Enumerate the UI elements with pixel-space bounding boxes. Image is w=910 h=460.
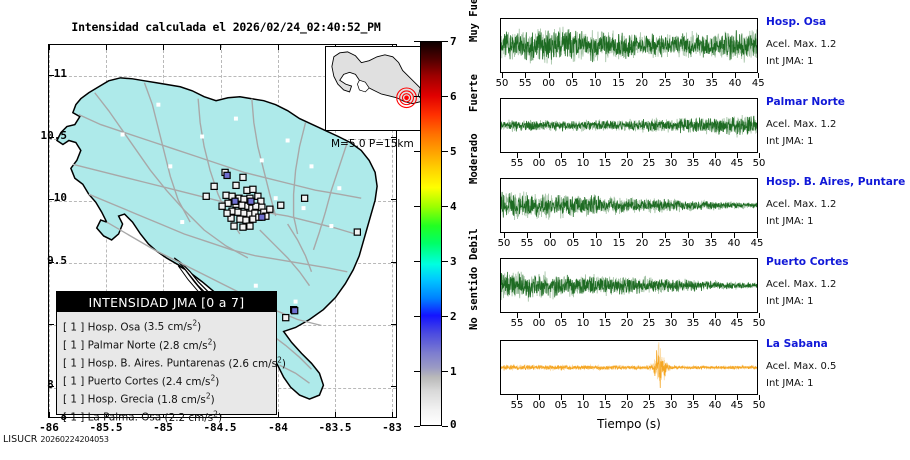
legend-station-name: Hosp. B. Aires. Puntarenas [88,358,225,370]
jma-intensity-label: Int JMA: 1 [766,378,814,389]
time-tick-label: 05 [550,318,572,329]
time-tick-label: 55 [514,78,536,89]
legend-station-row: [ 1 ] Hosp. Osa (3.5 cm/s2) [63,317,276,335]
legend-station-name: Puerto Cortes [88,376,159,388]
station-marker[interactable] [244,187,250,193]
station-name-label[interactable]: Hosp. B. Aires, Puntare [766,176,905,188]
colorbar-gradient [421,42,441,425]
seismogram-time-axis: 550005101520253035404550 [500,153,758,171]
time-tick-label: 20 [616,400,638,411]
colorbar-tick: 2 [450,310,457,323]
time-tick-label: 15 [594,318,616,329]
station-marker[interactable] [223,192,229,198]
time-tick-label: 00 [528,318,550,329]
legend-station-row: [ 1 ] Hosp. B. Aires. Puntarenas (2.6 cm… [63,353,276,371]
time-tick-label: 15 [594,400,616,411]
time-tick-label: 05 [561,78,583,89]
map-ytick: 10 [27,191,67,204]
seismogram-waveform [501,19,757,72]
time-tick-label: 10 [572,318,594,329]
station-marker[interactable] [278,202,284,208]
time-axis-title: Tiempo (s) [500,417,758,431]
station-marker[interactable] [241,196,247,202]
legend-header: INTENSIDAD JMA [0 a 7] [57,292,276,312]
legend-intensity-bracket: [ 1 ] [63,394,84,406]
max-acceleration-label: Acel. Max. 1.2 [766,279,836,290]
time-tick-label: 15 [608,78,630,89]
time-tick-label: 25 [654,78,676,89]
time-tick-label: 20 [616,158,638,169]
time-tick-label: 55 [506,400,528,411]
station-marker[interactable] [247,223,253,229]
time-tick-label: 25 [654,238,676,249]
time-tick-label: 35 [701,78,723,89]
legend-station-list: [ 1 ] Hosp. Osa (3.5 cm/s2)[ 1 ] Palmar … [57,312,276,425]
legend-accel-value: (3.5 cm/s2) [144,321,201,333]
time-tick-label: 40 [704,400,726,411]
time-tick-label: 00 [528,400,550,411]
seismogram-waveform [501,341,757,394]
time-tick-label: 05 [562,238,584,249]
time-tick-label: 30 [660,318,682,329]
time-tick-label: 40 [704,318,726,329]
time-tick-label: 00 [539,238,561,249]
max-acceleration-label: Acel. Max. 0.5 [766,361,836,372]
station-marker[interactable] [354,229,360,235]
jma-intensity-label: Int JMA: 1 [766,56,814,67]
time-tick-label: 00 [528,158,550,169]
time-tick-label: 20 [616,318,638,329]
station-marker[interactable] [302,195,308,201]
time-tick-label: 10 [584,78,606,89]
station-marker[interactable] [250,186,256,192]
time-tick-label: 45 [747,78,769,89]
time-tick-label: 45 [726,158,748,169]
station-marker[interactable] [292,308,298,314]
map-xtick: -83.5 [312,421,358,434]
legend-accel-value: (2.8 cm/s2) [159,340,216,352]
station-name-label[interactable]: La Sabana [766,338,828,350]
legend-station-name: La Palma. Osa [88,412,162,424]
station-marker[interactable] [250,216,256,222]
time-tick-label: 40 [723,238,745,249]
station-name-label[interactable]: Hosp. Osa [766,16,826,28]
legend-station-row: [ 1 ] Hosp. Grecia (1.8 cm/s2) [63,389,276,407]
station-marker[interactable] [259,214,265,220]
legend-intensity-bracket: [ 1 ] [63,412,84,424]
station-marker[interactable] [240,174,246,180]
time-tick-label: 50 [493,238,515,249]
seismogram-time-axis: 550005101520253035404550 [500,313,758,331]
map-ytick: 9.5 [27,254,67,267]
time-tick-label: 55 [506,318,528,329]
jma-intensity-label: Int JMA: 1 [766,216,814,227]
legend-station-name: Palmar Norte [88,340,156,352]
colorbar-tick: 0 [450,418,457,431]
jma-intensity-label: Int JMA: 1 [766,296,814,307]
time-tick-label: 25 [638,158,660,169]
max-acceleration-label: Acel. Max. 1.2 [766,39,836,50]
time-tick-label: 30 [660,158,682,169]
time-tick-label: 40 [724,78,746,89]
time-tick-label: 10 [572,400,594,411]
station-marker[interactable] [219,203,225,209]
station-name-label[interactable]: Puerto Cortes [766,256,849,268]
watermark-prefix: LISUCR [3,434,37,445]
legend-station-name: Hosp. Osa [88,321,141,333]
station-marker[interactable] [233,182,239,188]
seismogram-time-axis: 505500051015202530354045 [500,233,758,251]
time-tick-label: 55 [506,158,528,169]
time-tick-label: 05 [550,158,572,169]
seismogram-panel: 505500051015202530354045Hosp. OsaAcel. M… [470,0,910,460]
time-tick-label: 35 [682,158,704,169]
seismogram-waveform [501,179,757,232]
station-name-label[interactable]: Palmar Norte [766,96,845,108]
station-marker[interactable] [203,193,209,199]
time-tick-label: 40 [704,158,726,169]
magnitude-depth-label: M=5.0 P=15km [331,138,414,150]
map-ytick: 11 [27,67,67,80]
seismogram-trace-box[interactable] [500,340,758,395]
time-tick-label: 15 [608,238,630,249]
time-tick-label: 20 [631,78,653,89]
time-tick-label: 15 [594,158,616,169]
watermark-id: 20260224204053 [40,435,108,444]
intensity-legend: INTENSIDAD JMA [0 a 7] [ 1 ] Hosp. Osa (… [56,291,277,415]
seismogram-trace-box[interactable] [500,98,758,153]
time-tick-label: 35 [700,238,722,249]
legend-accel-value: (2.2 cm/s2) [165,412,222,424]
watermark: LISUCR 20260224204053 [3,434,109,445]
time-tick-label: 35 [682,318,704,329]
station-marker[interactable] [241,210,247,216]
station-marker[interactable] [243,217,249,223]
colorbar-tick: 1 [450,365,457,378]
station-marker[interactable] [224,210,230,216]
legend-intensity-bracket: [ 1 ] [63,358,84,370]
seismogram-trace-box[interactable] [500,18,758,73]
time-tick-label: 45 [726,400,748,411]
station-marker[interactable] [248,198,254,204]
legend-accel-value: (1.8 cm/s2) [157,394,214,406]
station-marker[interactable] [237,216,243,222]
time-tick-label: 30 [677,78,699,89]
max-acceleration-label: Acel. Max. 1.2 [766,199,836,210]
legend-intensity-bracket: [ 1 ] [63,376,84,388]
time-tick-label: 00 [538,78,560,89]
time-tick-label: 55 [516,238,538,249]
time-tick-label: 30 [677,238,699,249]
time-tick-label: 45 [726,318,748,329]
colorbar-tick: 4 [450,200,457,213]
colorbar-tick: 3 [450,255,457,268]
seismogram-time-axis: 550005101520253035404550 [500,395,758,413]
legend-station-row: [ 1 ] Palmar Norte (2.8 cm/s2) [63,335,276,353]
colorbar-tick: 7 [450,35,457,48]
legend-accel-value: (2.6 cm/s2) [228,358,285,370]
time-tick-label: 50 [748,158,770,169]
station-marker[interactable] [224,172,230,178]
epicenter-rings [397,88,417,108]
map-ytick: 10.5 [27,129,67,142]
legend-accel-value: (2.4 cm/s2) [162,376,219,388]
seismogram-waveform [501,259,757,312]
time-tick-label: 50 [491,78,513,89]
legend-station-row: [ 1 ] Puerto Cortes (2.4 cm/s2) [63,371,276,389]
time-tick-label: 35 [682,400,704,411]
time-tick-label: 10 [585,238,607,249]
station-marker[interactable] [240,224,246,230]
time-tick-label: 50 [748,318,770,329]
page-title: Intensidad calculada el 2026/02/24_02:40… [56,20,396,34]
colorbar-tick: 6 [450,90,457,103]
seismogram-time-axis: 505500051015202530354045 [500,73,758,91]
time-tick-label: 10 [572,158,594,169]
station-marker[interactable] [232,198,238,204]
time-tick-label: 05 [550,400,572,411]
map-xtick: -83 [369,421,415,434]
seismogram-trace-box[interactable] [500,178,758,233]
station-marker[interactable] [267,206,273,212]
max-acceleration-label: Acel. Max. 1.2 [766,119,836,130]
jma-intensity-label: Int JMA: 1 [766,136,814,147]
station-marker[interactable] [211,183,217,189]
legend-intensity-bracket: [ 1 ] [63,340,84,352]
station-marker[interactable] [235,209,241,215]
station-marker[interactable] [225,200,231,206]
time-tick-label: 45 [746,238,768,249]
time-tick-label: 25 [638,400,660,411]
colorbar-tick: 5 [450,145,457,158]
time-tick-label: 50 [748,400,770,411]
legend-station-name: Hosp. Grecia [88,394,154,406]
intensity-map-panel: Intensidad calculada el 2026/02/24_02:40… [0,0,470,460]
station-marker[interactable] [283,315,289,321]
station-marker[interactable] [231,223,237,229]
intensity-colorbar[interactable] [420,41,442,426]
time-tick-label: 30 [660,400,682,411]
station-marker[interactable] [239,202,245,208]
seismogram-waveform [501,99,757,152]
seismogram-trace-box[interactable] [500,258,758,313]
time-tick-label: 20 [631,238,653,249]
legend-station-row: [ 1 ] La Palma. Osa (2.2 cm/s2) [63,407,276,425]
legend-intensity-bracket: [ 1 ] [63,321,84,333]
time-tick-label: 25 [638,318,660,329]
